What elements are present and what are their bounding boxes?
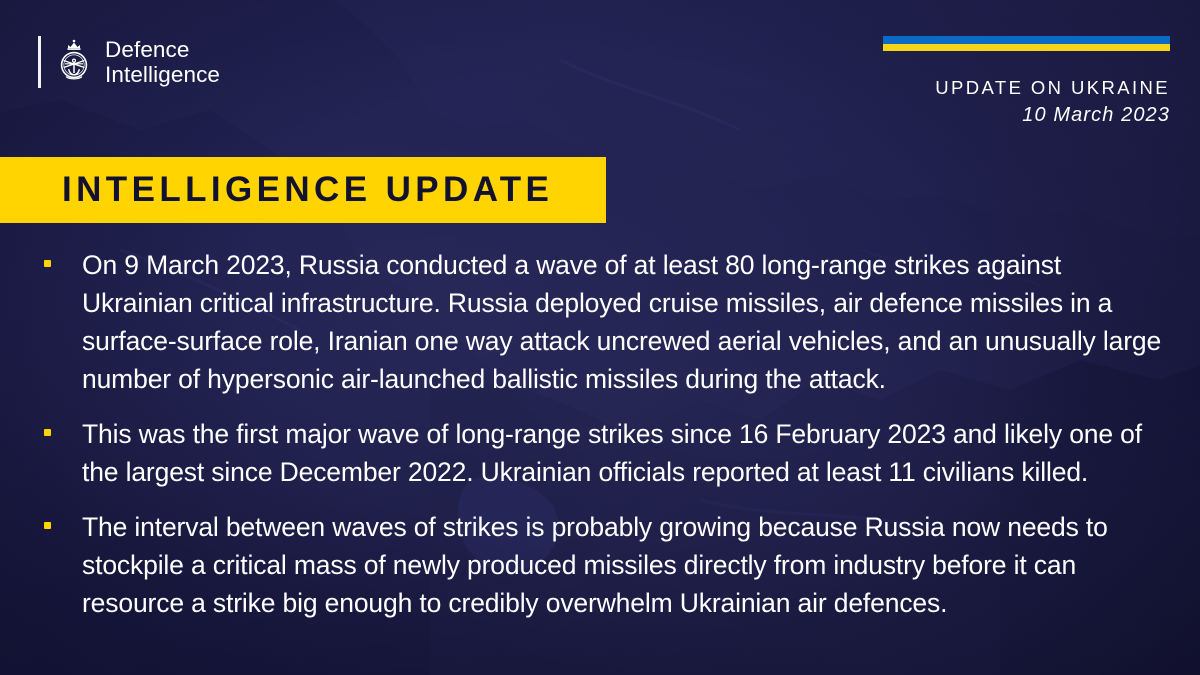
bullet-text: This was the first major wave of long-ra… (82, 415, 1162, 491)
footer-placeholder-text: Lorem (1152, 612, 1184, 624)
banner-title: INTELLIGENCE UPDATE (0, 170, 553, 210)
bullet-dot-icon (38, 246, 82, 398)
bullet-dot-icon (38, 508, 82, 622)
brand-name: Defence Intelligence (105, 37, 220, 88)
ukraine-flag-bar-icon (883, 36, 1170, 51)
bullet-text: The interval between waves of strikes is… (82, 508, 1162, 622)
mod-tri-service-crest-icon (54, 36, 94, 88)
brand-lockup: Defence Intelligence (38, 36, 220, 88)
flag-blue-stripe (883, 36, 1170, 44)
list-item: The interval between waves of strikes is… (38, 508, 1162, 622)
update-label: UPDATE ON UKRAINE (850, 77, 1170, 99)
update-meta: UPDATE ON UKRAINE 10 March 2023 (850, 36, 1170, 128)
flag-yellow-stripe (883, 44, 1170, 51)
update-date: 10 March 2023 (850, 102, 1170, 128)
list-item: On 9 March 2023, Russia conducted a wave… (38, 246, 1162, 398)
bullet-dot-icon (38, 415, 82, 491)
list-item: This was the first major wave of long-ra… (38, 415, 1162, 491)
bullet-text: On 9 March 2023, Russia conducted a wave… (82, 246, 1162, 398)
intelligence-update-banner: INTELLIGENCE UPDATE (0, 157, 606, 223)
bullet-list: On 9 March 2023, Russia conducted a wave… (38, 246, 1162, 622)
brand-divider (38, 36, 41, 88)
